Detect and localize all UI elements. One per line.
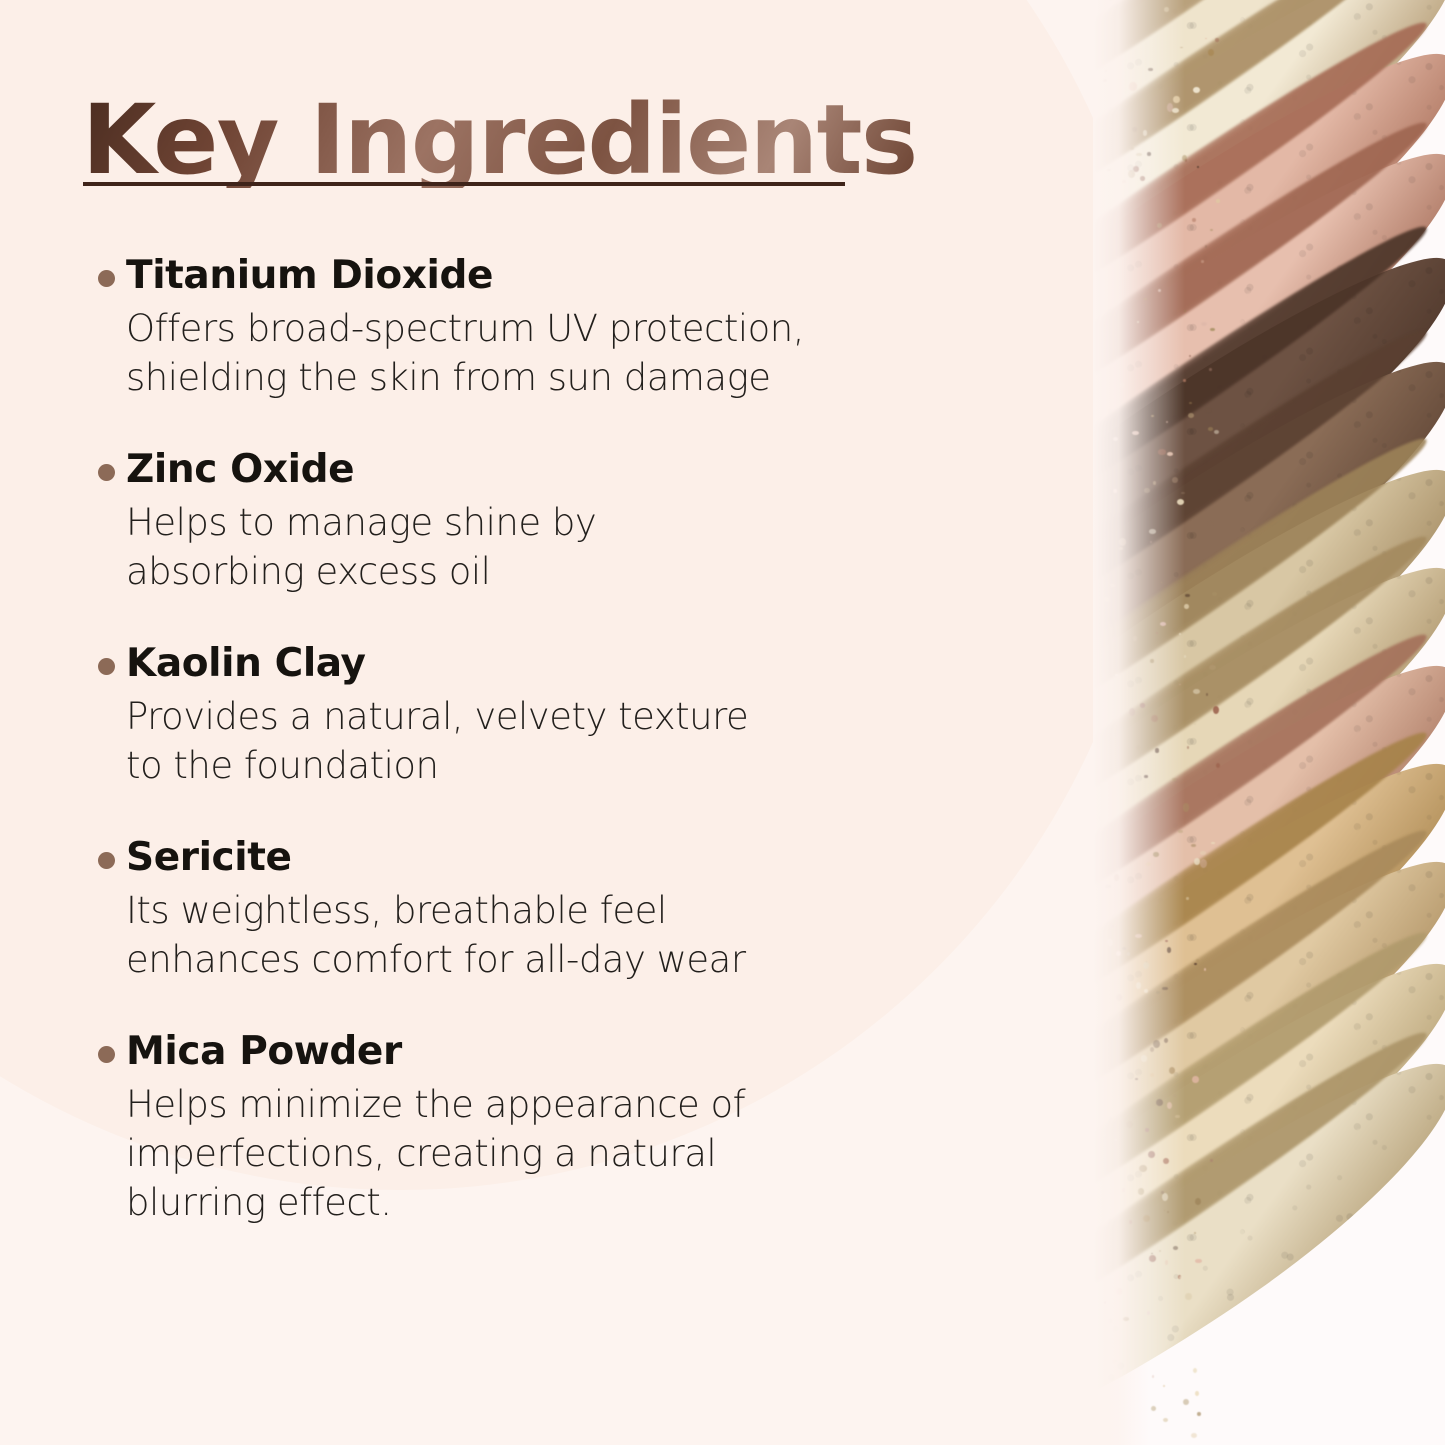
powder-particle <box>1104 863 1109 867</box>
powder-particle <box>1153 852 1158 857</box>
powder-particle <box>1179 1016 1183 1019</box>
powder-particle <box>1200 851 1205 855</box>
powder-particle <box>1116 994 1122 1001</box>
powder-particle <box>1195 1259 1201 1264</box>
powder-particle <box>1167 452 1173 456</box>
ingredient-name: Kaolin Clay <box>126 640 1080 688</box>
powder-particle <box>1189 355 1191 357</box>
powder-particle <box>1151 1406 1156 1411</box>
powder-particle <box>1155 1158 1157 1160</box>
bullet-icon <box>98 270 115 287</box>
powder-particle <box>1102 674 1107 679</box>
powder-particle <box>1191 844 1196 847</box>
powder-particle <box>1208 427 1213 430</box>
powder-particle <box>1172 108 1179 113</box>
ingredient-name: Sericite <box>126 834 1080 882</box>
powder-particle <box>1140 703 1145 707</box>
powder-swatch-image <box>1093 0 1445 1445</box>
powder-particle <box>1148 1151 1155 1158</box>
powder-particle <box>1167 947 1171 952</box>
powder-particle <box>1193 87 1200 94</box>
powder-particle <box>1149 1255 1156 1262</box>
powder-particle <box>1115 1139 1117 1140</box>
powder-particle <box>1141 1055 1148 1062</box>
content-column: Key Ingredients Titanium Dioxide Offers … <box>0 0 1080 1445</box>
powder-particle <box>1129 1220 1132 1224</box>
powder-particle <box>1181 492 1185 495</box>
powder-particle <box>1173 1246 1178 1250</box>
powder-particle <box>1144 488 1150 493</box>
powder-particle <box>1122 947 1125 950</box>
title-underline <box>83 182 845 186</box>
powder-particle <box>1184 604 1188 609</box>
powder-particle <box>1110 489 1114 494</box>
powder-particle <box>1213 706 1219 714</box>
powder-particle <box>1179 684 1181 686</box>
powder-particle <box>1149 529 1156 534</box>
powder-particle <box>1158 449 1165 454</box>
powder-particle <box>1161 1191 1164 1193</box>
ingredient-description: Helps to manage shine by absorbing exces… <box>126 498 1080 596</box>
powder-particle <box>1194 1232 1196 1234</box>
powder-particle <box>1113 437 1118 441</box>
powder-particle <box>1151 415 1154 417</box>
powder-particle <box>1172 778 1176 782</box>
powder-particle <box>1144 989 1148 993</box>
list-item: Titanium Dioxide Offers broad-spectrum U… <box>82 252 1080 402</box>
powder-particle <box>1104 1301 1106 1304</box>
powder-particle <box>1214 430 1219 434</box>
powder-particle <box>1156 991 1160 994</box>
powder-particle <box>1193 689 1200 694</box>
bullet-icon <box>98 464 115 481</box>
powder-particle <box>1147 152 1151 156</box>
powder-particle <box>1152 1375 1155 1377</box>
powder-particle <box>1165 1260 1168 1265</box>
powder-particle <box>1104 597 1109 602</box>
ingredient-name: Mica Powder <box>126 1028 1080 1076</box>
powder-particle <box>1150 541 1152 543</box>
powder-particle <box>1185 594 1190 598</box>
powder-particle <box>1130 147 1134 150</box>
powder-particle <box>1099 1139 1104 1144</box>
powder-particle <box>1215 38 1218 42</box>
ingredient-list: Titanium Dioxide Offers broad-spectrum U… <box>82 252 1080 1227</box>
ingredient-description: Offers broad-spectrum UV protection, shi… <box>126 304 1080 402</box>
powder-particle <box>1128 170 1135 178</box>
powder-particle <box>1216 199 1220 203</box>
powder-particle <box>1192 1076 1198 1083</box>
powder-particle <box>1194 723 1196 725</box>
powder-particle <box>1116 340 1119 343</box>
key-ingredients-infographic: Key Ingredients Titanium Dioxide Offers … <box>0 0 1445 1445</box>
powder-particle <box>1165 940 1168 943</box>
powder-particle <box>1119 547 1123 550</box>
ingredient-description: Provides a natural, velvety texture to t… <box>126 692 1080 790</box>
powder-particle <box>1197 166 1199 168</box>
powder-particle <box>1201 322 1207 326</box>
powder-particle <box>1173 96 1180 104</box>
ingredient-name: Zinc Oxide <box>126 446 1080 494</box>
powder-particle <box>1158 289 1161 292</box>
ingredient-description: Its weightless, breathable feel enhances… <box>126 886 1080 984</box>
powder-particle <box>1164 7 1169 12</box>
powder-particle <box>1183 803 1189 811</box>
powder-particle <box>1183 1399 1189 1405</box>
page-title: Key Ingredients <box>82 92 917 188</box>
powder-particle <box>1163 1385 1165 1387</box>
powder-particle <box>1136 982 1141 989</box>
powder-particle <box>1126 1121 1132 1128</box>
powder-particle <box>1114 874 1119 881</box>
powder-particle <box>1143 962 1149 969</box>
powder-particle <box>1209 368 1212 370</box>
powder-particle <box>1193 1368 1197 1373</box>
powder-particle <box>1132 127 1136 133</box>
powder-particle <box>1197 1412 1201 1416</box>
powder-particle <box>1173 1094 1175 1097</box>
powder-particle <box>1138 1188 1144 1194</box>
powder-particle <box>1143 130 1148 135</box>
powder-particle <box>1175 1115 1179 1118</box>
powder-particle <box>1123 1317 1129 1321</box>
powder-particle <box>1105 885 1111 889</box>
title-block: Key Ingredients <box>82 92 847 188</box>
bullet-icon <box>98 1046 115 1063</box>
powder-particle <box>1122 180 1125 183</box>
powder-particle <box>1184 310 1186 312</box>
powder-particle <box>1139 1165 1146 1171</box>
bullet-icon <box>98 852 115 869</box>
powder-particle <box>1119 538 1126 546</box>
ingredient-description: Helps minimize the appearance of imperfe… <box>126 1080 1080 1228</box>
powder-particle <box>1205 408 1211 413</box>
powder-particle <box>1144 298 1147 300</box>
powder-particle <box>1129 708 1135 716</box>
list-item: Zinc Oxide Helps to manage shine by abso… <box>82 446 1080 596</box>
list-item: Sericite Its weightless, breathable feel… <box>82 834 1080 984</box>
powder-particle <box>1195 1391 1198 1396</box>
bullet-icon <box>98 658 115 675</box>
powder-particle <box>1186 897 1189 901</box>
powder-particle <box>1160 622 1165 626</box>
powder-particle <box>1122 1188 1125 1191</box>
powder-particle <box>1172 477 1178 483</box>
powder-particle <box>1155 748 1159 752</box>
powder-particle <box>1145 1128 1149 1132</box>
powder-particle <box>1129 82 1136 90</box>
ingredient-name: Titanium Dioxide <box>126 252 1080 300</box>
powder-particle <box>1111 925 1114 927</box>
powder-particle <box>1144 775 1147 778</box>
powder-particle <box>1201 260 1204 262</box>
powder-particle <box>1115 674 1118 676</box>
powder-particle <box>1194 858 1200 866</box>
powder-particle <box>1105 70 1107 72</box>
powder-particle <box>1147 1311 1150 1315</box>
powder-particle <box>1153 1040 1160 1048</box>
powder-particle <box>1191 1433 1197 1438</box>
list-item: Mica Powder Helps minimize the appearanc… <box>82 1028 1080 1227</box>
powder-particle <box>1153 481 1156 484</box>
powder-particle <box>1135 934 1141 938</box>
powder-particle <box>1163 1418 1168 1422</box>
powder-particle <box>1164 1210 1166 1211</box>
powder-particle <box>1163 1158 1169 1164</box>
powder-particle <box>1103 1135 1105 1136</box>
powder-particle <box>1146 862 1151 866</box>
powder-particle <box>1177 499 1184 505</box>
list-item: Kaolin Clay Provides a natural, velvety … <box>82 640 1080 790</box>
powder-particle <box>1151 715 1158 722</box>
